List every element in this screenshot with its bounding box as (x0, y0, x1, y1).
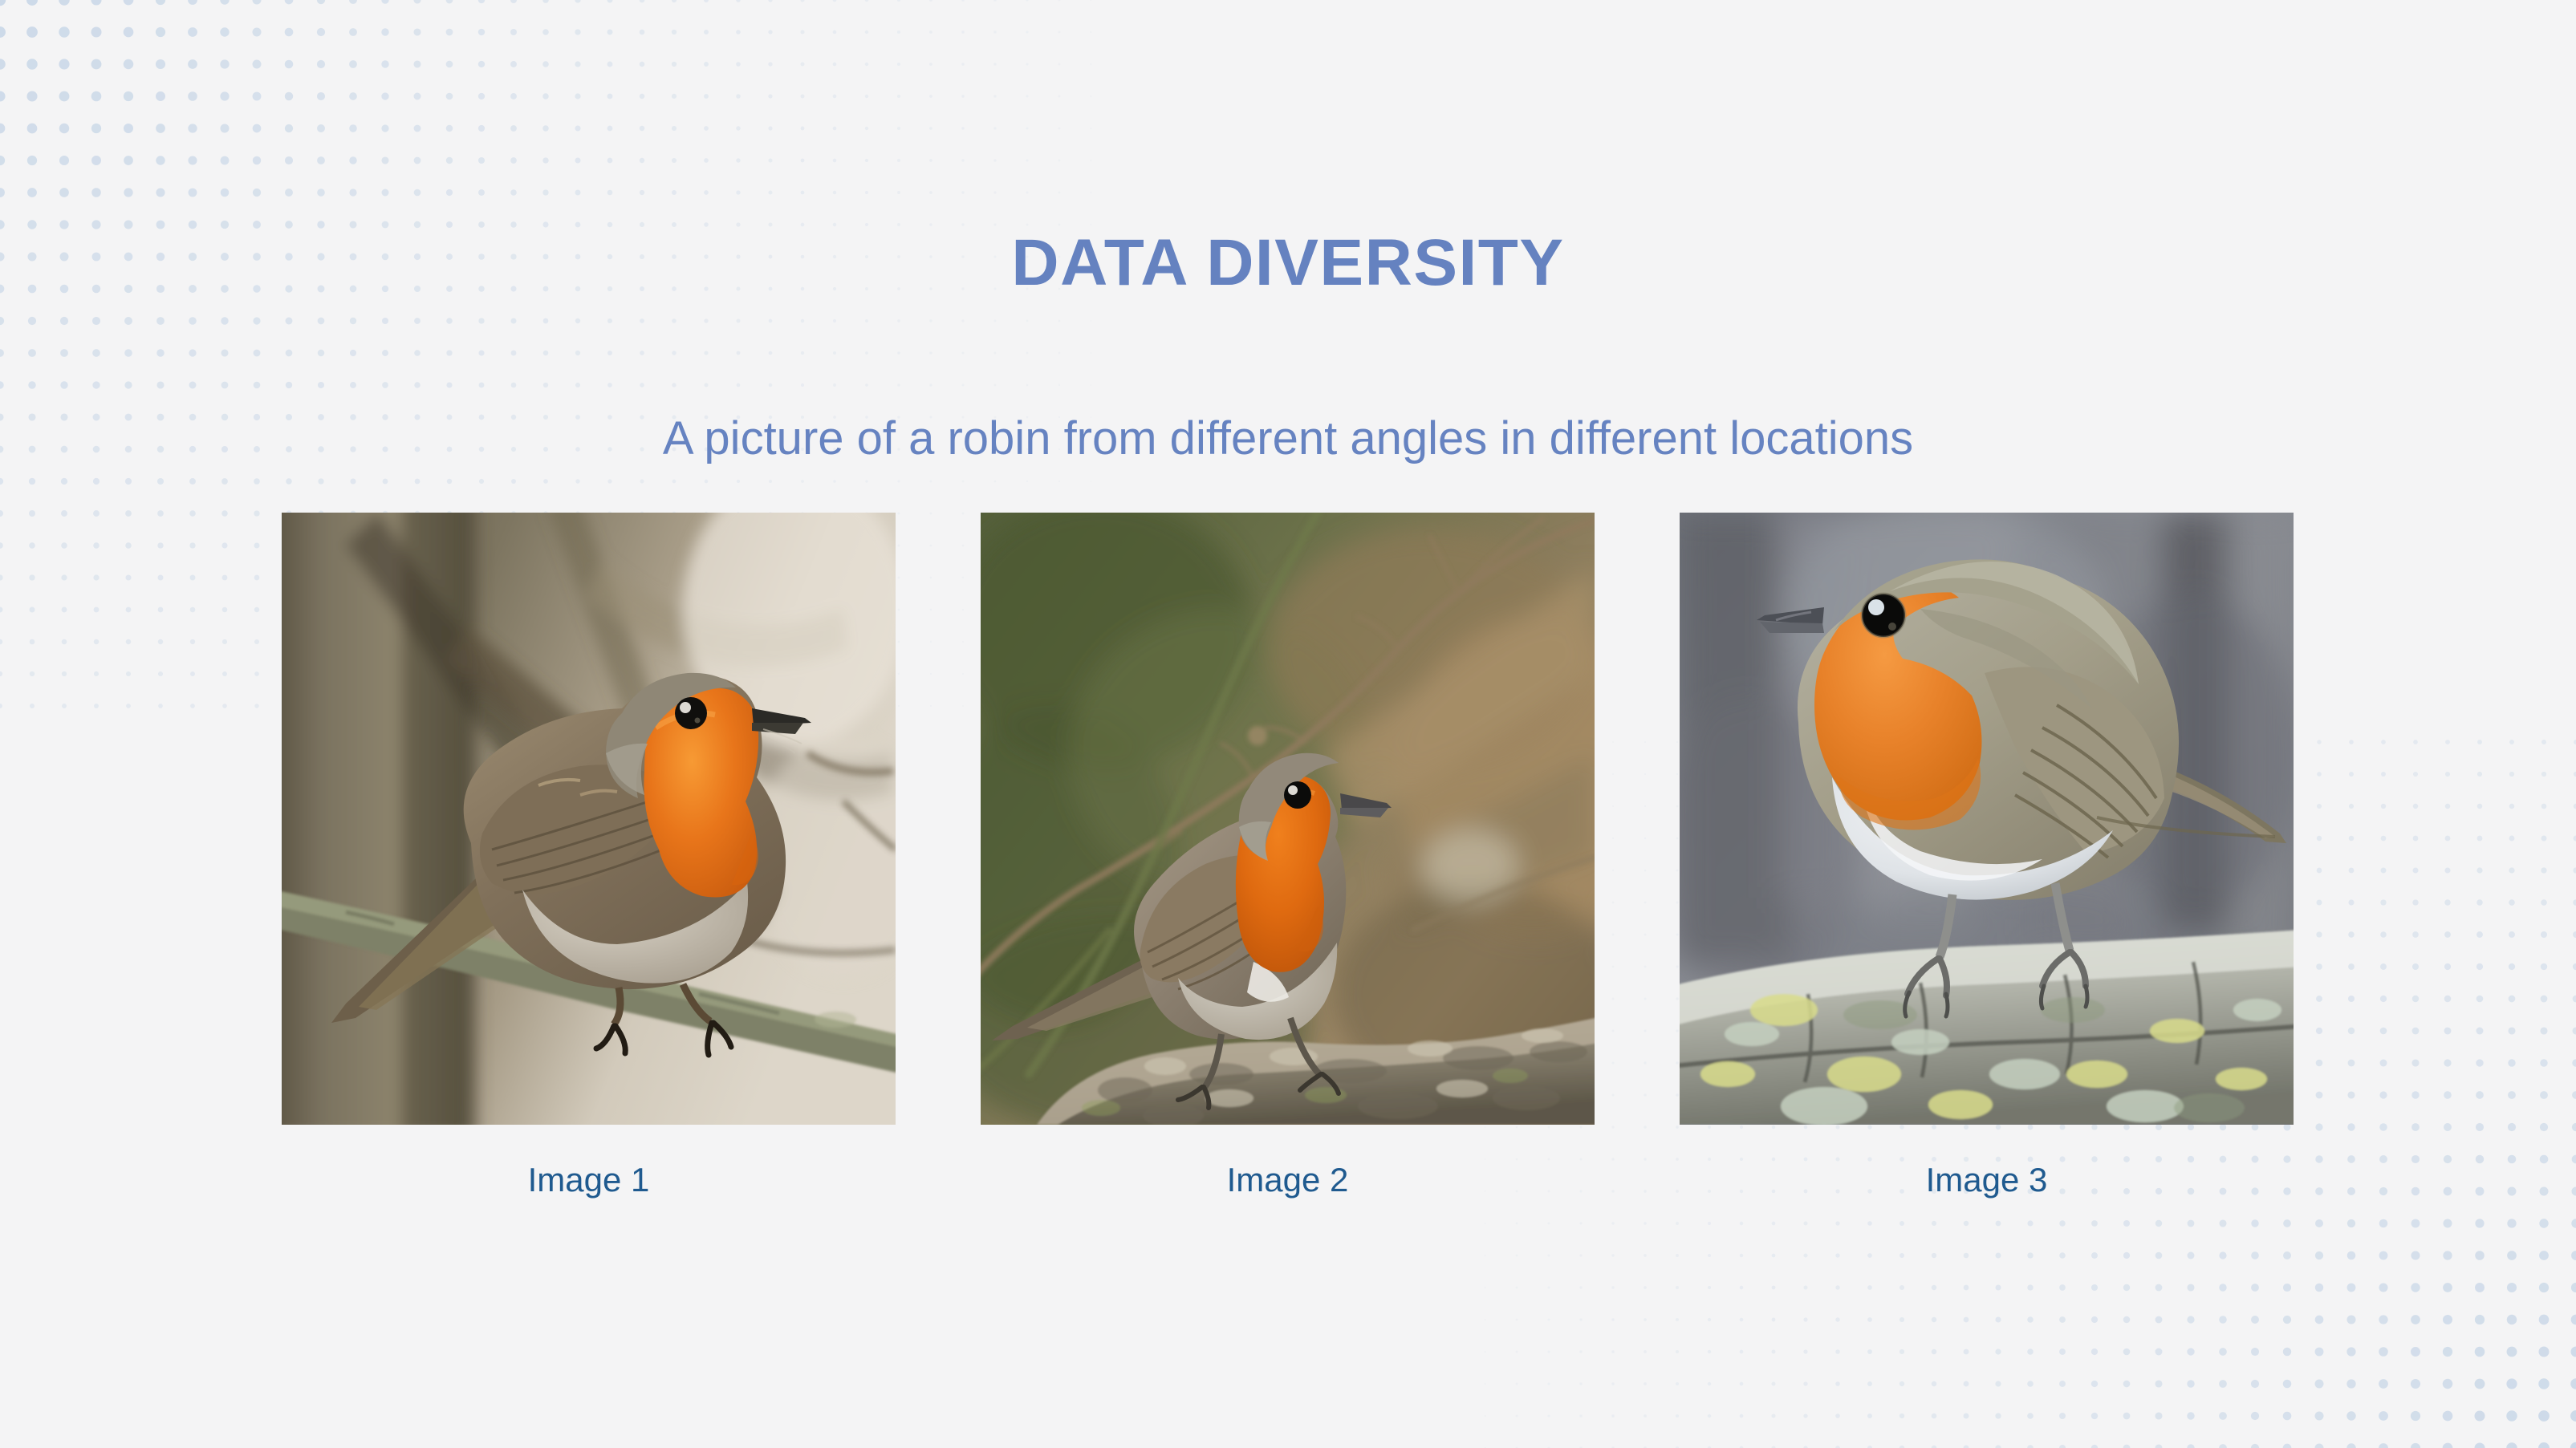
image-gallery: Image 1 (282, 513, 2294, 1197)
slide-canvas: DATA DIVERSITY A picture of a robin from… (0, 0, 2576, 1448)
gallery-caption-1: Image 1 (528, 1163, 650, 1197)
gallery-item-2[interactable]: Image 2 (981, 513, 1595, 1197)
page-subtitle: A picture of a robin from different angl… (0, 416, 2576, 462)
gallery-caption-3: Image 3 (1926, 1163, 2048, 1197)
robin-photo-2[interactable] (981, 513, 1595, 1125)
gallery-caption-2: Image 2 (1227, 1163, 1349, 1197)
page-title: DATA DIVERSITY (0, 230, 2576, 296)
robin-photo-1[interactable] (282, 513, 896, 1125)
gallery-item-3[interactable]: Image 3 (1680, 513, 2294, 1197)
robin-photo-3[interactable] (1680, 513, 2294, 1125)
gallery-item-1[interactable]: Image 1 (282, 513, 896, 1197)
